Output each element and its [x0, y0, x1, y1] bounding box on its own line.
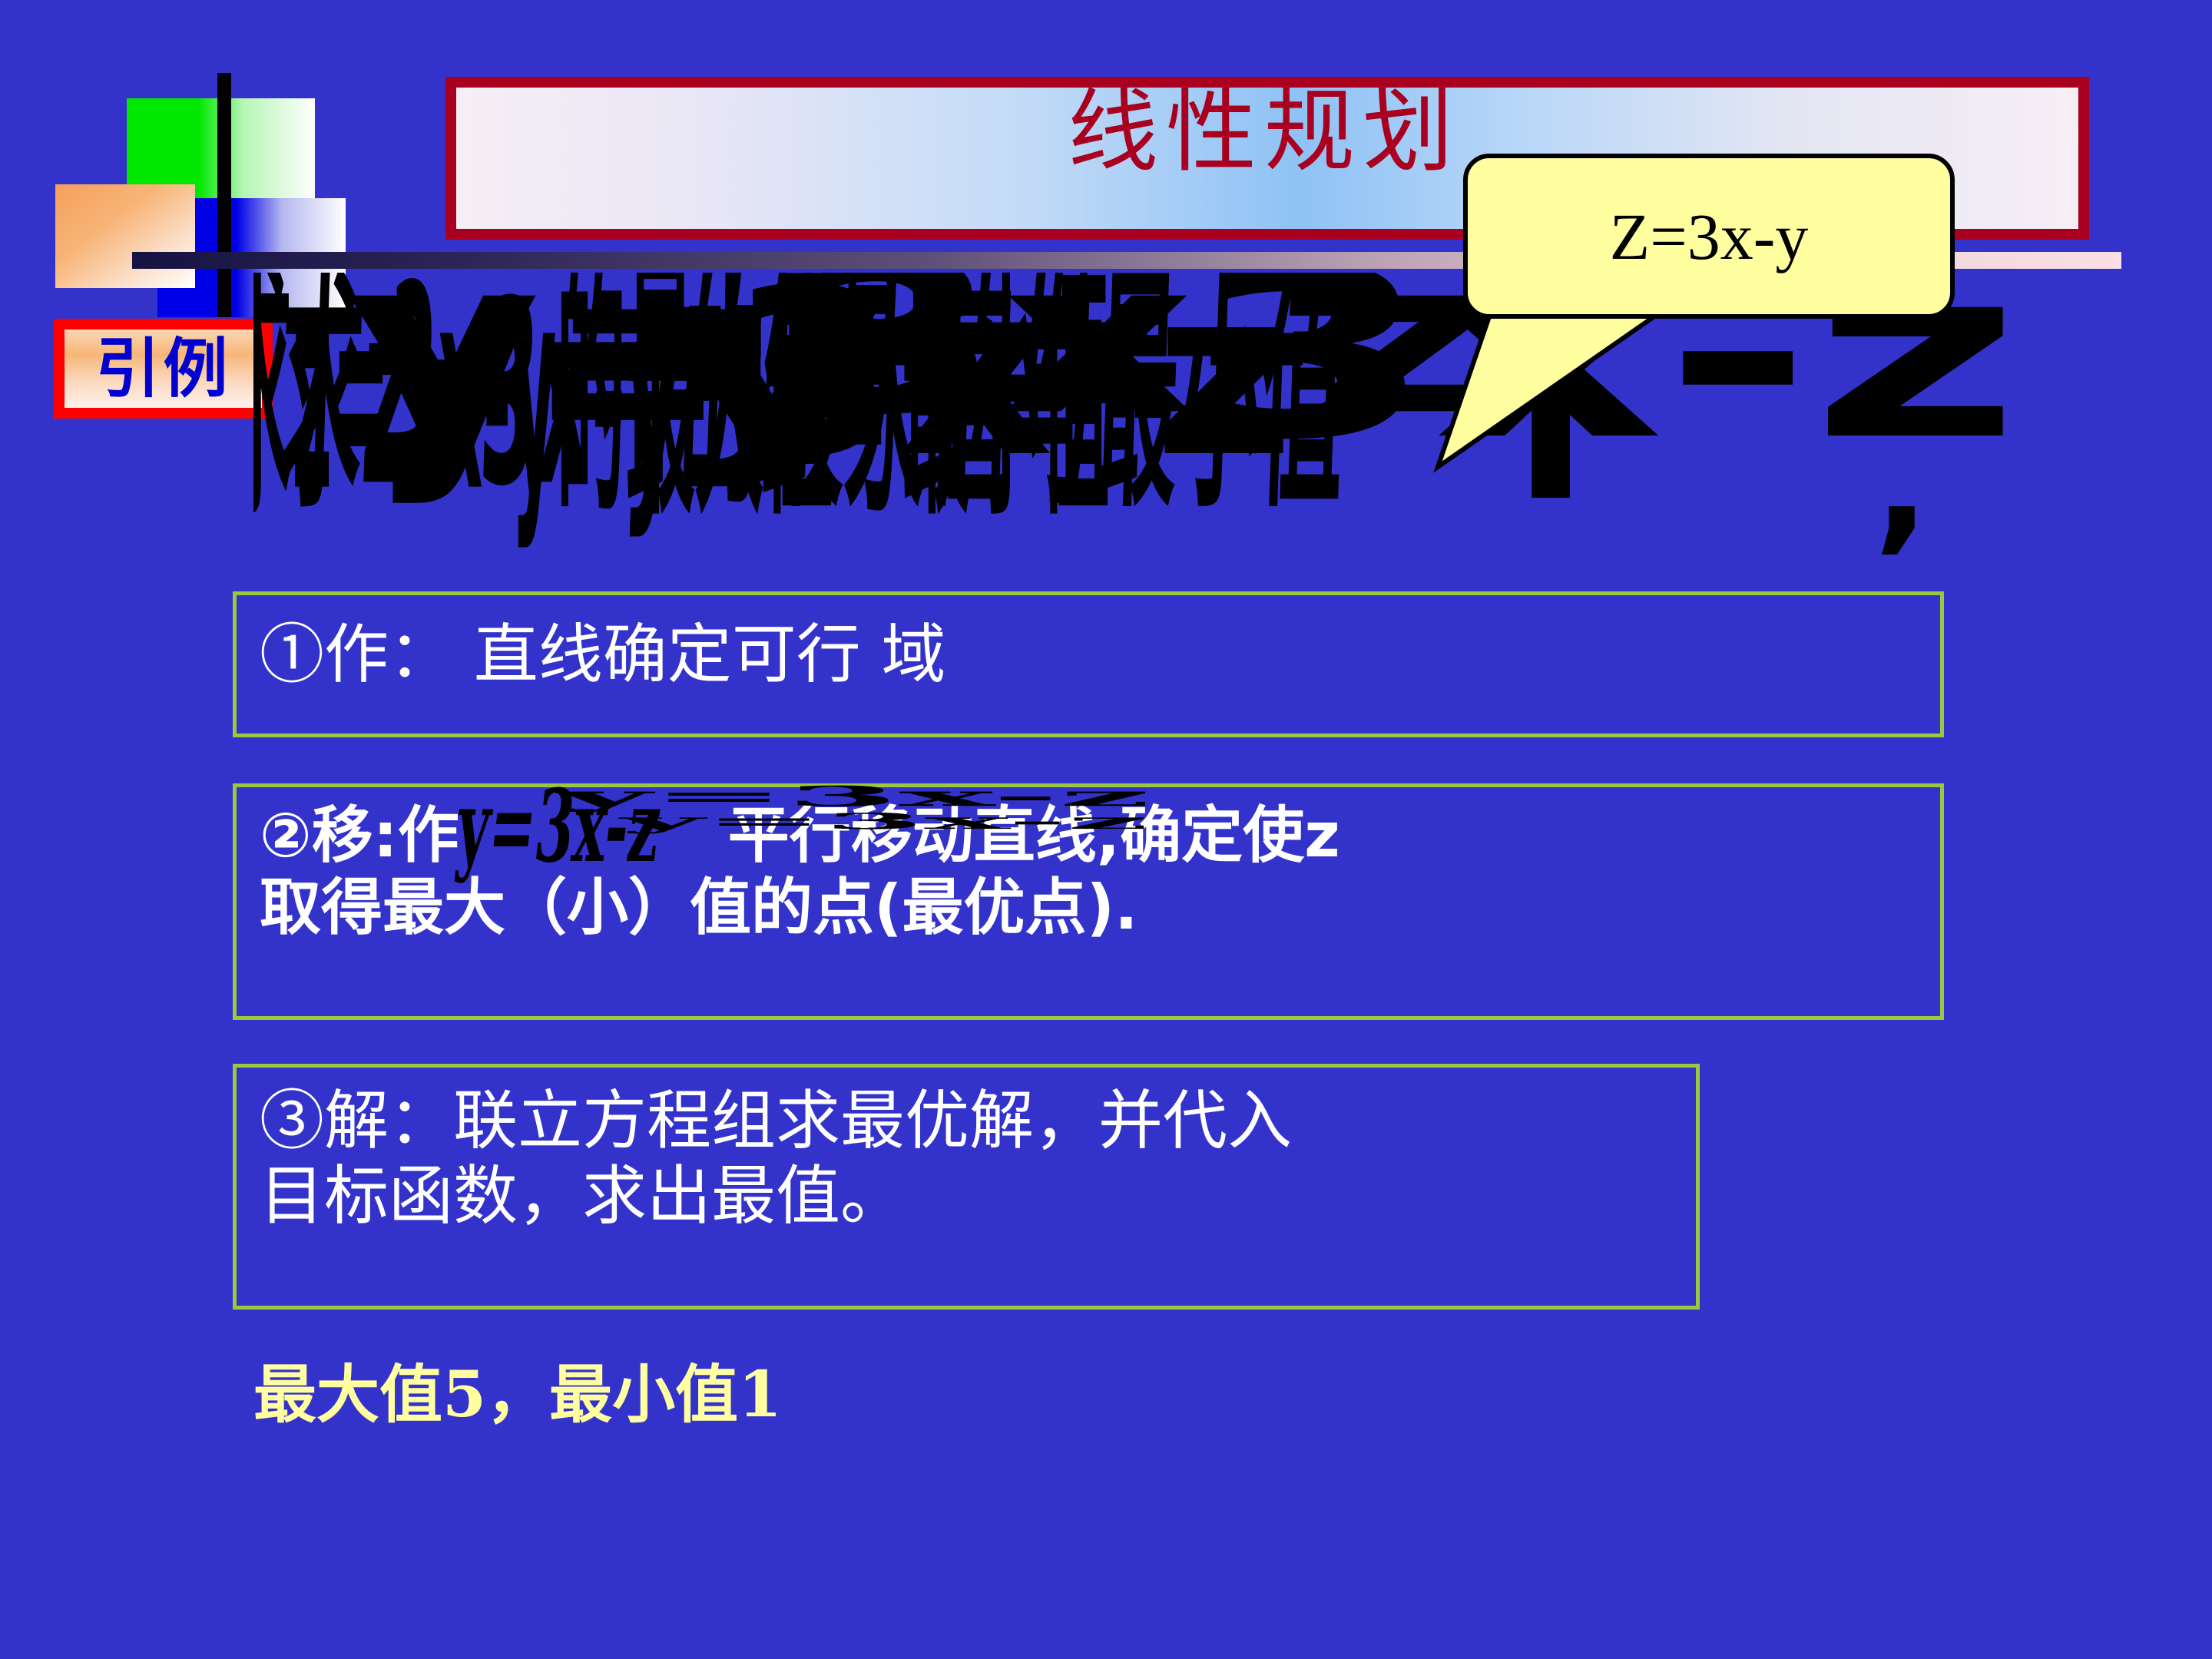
callout-label: Z=3x-y	[1610, 204, 1809, 270]
step-1-box: ①作： 直线确定可行 域	[233, 591, 1944, 737]
slide-canvas: 线性规划 引例 求z=3x-y的最大值与最小值 求z=3x-y的最大值与最小值 …	[0, 0, 2212, 1659]
example-tag-label: 引例	[95, 336, 230, 401]
answer-summary: 最大值5，最小值1	[253, 1363, 782, 1426]
page-title: 线性规划	[1068, 86, 1461, 177]
garbled-comma-mark: ,	[1874, 411, 1929, 557]
orange-square-decoration	[55, 184, 195, 288]
objective-function-callout[interactable]: Z=3x-y	[1463, 154, 1955, 319]
step-2-text-line2: 取得最大（小）值的点(最优点).	[260, 872, 1138, 943]
garbled-eq-glyph-2: y=3x-z	[558, 783, 1151, 810]
step-3-box: ③解：联立方程组求最优解，并代入 目标函数，求出最值。	[233, 1064, 1700, 1310]
step-2-box: ②移:作y=3x-zy=3x-zy=3x-z平行移动直线,确定使z取得最大（小）…	[233, 783, 1944, 1020]
garbled-eq-glyph-3: y=3x-z	[621, 810, 1148, 833]
garbled-heading-artifact: 求z=3x-y的最大值与最小值 求z=3x-y的最大值与最小值 y=3x-z y…	[253, 273, 2020, 595]
step-3-text: ③解：联立方程组求最优解，并代入 目标函数，求出最值。	[260, 1083, 1292, 1234]
vertical-bar-decoration	[217, 73, 231, 317]
example-tag-box: 引例	[54, 319, 273, 419]
callout-tail	[1406, 292, 1728, 484]
step-2-text-before: ②移:作	[260, 800, 459, 871]
step-2-text: ②移:作y=3x-zy=3x-zy=3x-z平行移动直线,确定使z取得最大（小）…	[260, 800, 1340, 943]
step-1-text: ①作： 直线确定可行 域	[260, 617, 945, 692]
